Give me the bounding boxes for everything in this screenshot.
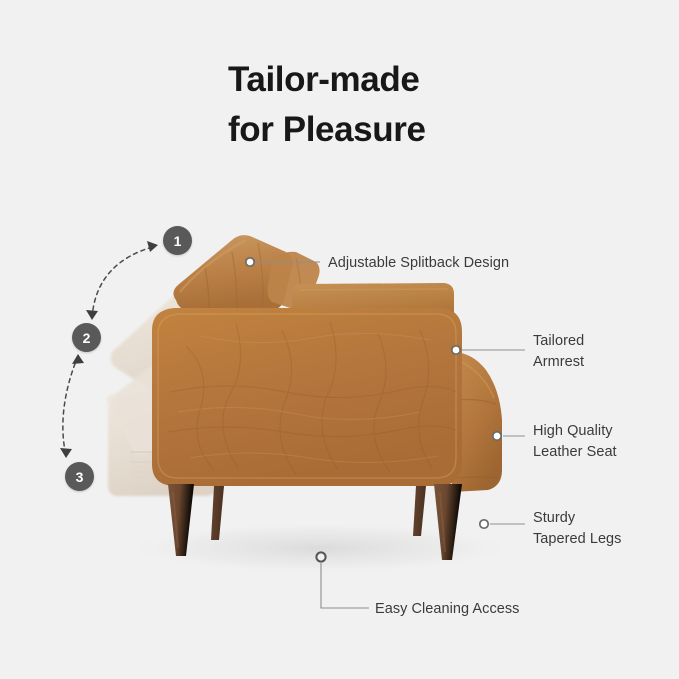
step-badge-2-number: 2 xyxy=(83,330,91,346)
marker-dot-tapered-legs xyxy=(480,520,488,528)
callout-label-armrest: Tailored Armrest xyxy=(533,331,584,373)
callout-label-leather-seat: High Quality Leather Seat xyxy=(533,421,617,463)
step-badge-3-number: 3 xyxy=(76,469,84,485)
step-badge-3[interactable]: 3 xyxy=(65,462,94,491)
arrow-step2-to-step3 xyxy=(63,356,78,456)
step-badge-1-number: 1 xyxy=(174,233,182,249)
callout-label-splitback: Adjustable Splitback Design xyxy=(328,253,509,274)
marker-dot-leather-seat xyxy=(493,432,501,440)
marker-dot-armrest xyxy=(452,346,460,354)
product-illustration-scene: 1 2 3 Adjustable Splitback Design Tailor… xyxy=(0,0,679,679)
armrest-side-panel xyxy=(152,308,462,486)
callout-label-tapered-legs: Sturdy Tapered Legs xyxy=(533,508,621,550)
infographic-page: Tailor-made for Pleasure xyxy=(0,0,679,679)
marker-dot-cleaning-access xyxy=(316,552,325,561)
step-badge-2[interactable]: 2 xyxy=(72,323,101,352)
callout-label-cleaning-access: Easy Cleaning Access xyxy=(375,599,519,620)
step-badge-1[interactable]: 1 xyxy=(163,226,192,255)
marker-dot-splitback xyxy=(246,258,254,266)
arrow-step2-to-step1 xyxy=(92,246,156,318)
